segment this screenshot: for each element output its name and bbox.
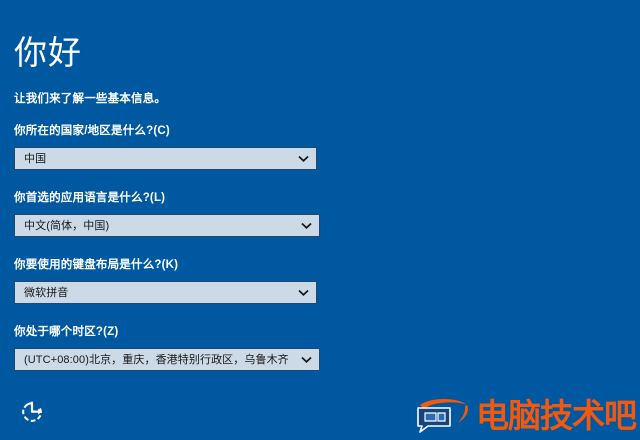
setup-form: 你所在的国家/地区是什么?(C) 中国 你首选的应用语言是什么?(L) 中文(简…: [14, 124, 344, 371]
header-block: 你好 让我们来了解一些基本信息。: [14, 34, 434, 107]
country-region-value: 中国: [15, 152, 316, 166]
field-time-zone: 你处于哪个时区?(Z) (UTC+08:00)北京，重庆，香港特别行政区，乌鲁木…: [14, 325, 344, 371]
chevron-down-icon: [298, 153, 309, 164]
keyboard-layout-select[interactable]: 微软拼音: [14, 281, 317, 304]
chevron-down-icon: [301, 354, 312, 365]
keyboard-layout-value: 微软拼音: [15, 286, 316, 300]
field-label-app-language: 你首选的应用语言是什么?(L): [14, 191, 344, 206]
oobe-screen: 你好 让我们来了解一些基本信息。 你所在的国家/地区是什么?(C) 中国 你首选…: [0, 0, 640, 440]
field-label-time-zone: 你处于哪个时区?(Z): [14, 325, 344, 340]
field-app-language: 你首选的应用语言是什么?(L) 中文(简体，中国): [14, 191, 344, 237]
chevron-down-icon: [298, 287, 309, 298]
site-watermark-text: 电脑技术吧: [476, 398, 636, 434]
page-subtitle: 让我们来了解一些基本信息。: [14, 91, 434, 107]
field-keyboard-layout: 你要使用的键盘布局是什么?(K) 微软拼音: [14, 258, 344, 304]
ease-of-access-button[interactable]: [17, 397, 47, 427]
field-country-region: 你所在的国家/地区是什么?(C) 中国: [14, 124, 344, 170]
time-zone-value: (UTC+08:00)北京，重庆，香港特别行政区，乌鲁木齐: [15, 353, 319, 367]
time-zone-select[interactable]: (UTC+08:00)北京，重庆，香港特别行政区，乌鲁木齐: [14, 348, 320, 371]
country-region-select[interactable]: 中国: [14, 147, 317, 170]
site-watermark: 电脑技术吧: [414, 394, 636, 438]
ease-of-access-icon: [19, 399, 45, 425]
app-language-select[interactable]: 中文(简体，中国): [14, 214, 320, 237]
site-logo-icon: [414, 396, 472, 436]
chevron-down-icon: [301, 220, 312, 231]
page-title: 你好: [14, 34, 434, 72]
app-language-value: 中文(简体，中国): [15, 219, 319, 233]
field-label-country-region: 你所在的国家/地区是什么?(C): [14, 124, 344, 139]
field-label-keyboard-layout: 你要使用的键盘布局是什么?(K): [14, 258, 344, 273]
